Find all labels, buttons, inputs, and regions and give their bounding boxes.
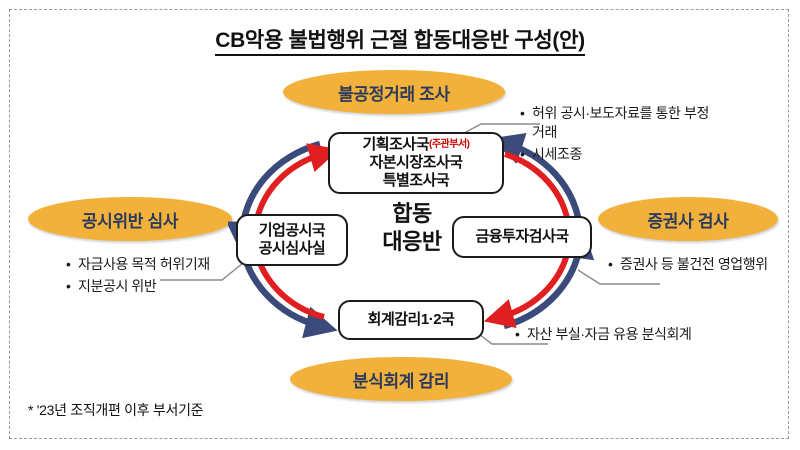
dept-left-line2: 공시심사실 bbox=[259, 240, 326, 258]
list-item: • 지분공시 위반 bbox=[66, 277, 241, 296]
bullet-text: 지분공시 위반 bbox=[78, 277, 241, 296]
bullet-group-right: • 증권사 등 불건전 영업행위 bbox=[608, 255, 788, 277]
footnote: * '23년 조직개편 이후 부서기준 bbox=[28, 400, 203, 420]
bullet-group-left: • 자금사용 목적 허위기재 • 지분공시 위반 bbox=[66, 255, 241, 299]
dept-top-line2: 자본시장조사국 bbox=[369, 154, 462, 172]
bullet-dot-icon: • bbox=[608, 255, 620, 274]
dept-top-line1: 기획조사국(주관부서) bbox=[363, 136, 470, 154]
list-item: • 증권사 등 불건전 영업행위 bbox=[608, 255, 788, 274]
pill-right-text: 증권사 검사 bbox=[647, 207, 728, 232]
dept-right-line1: 금융투자검사국 bbox=[475, 228, 568, 246]
bullet-text: 증권사 등 불건전 영업행위 bbox=[620, 255, 788, 274]
list-item: • 허위 공시·보도자료를 통한 부정거래 bbox=[520, 104, 720, 142]
dept-bottom-line1: 회계감리1·2국 bbox=[368, 311, 455, 329]
dept-top-line1-main: 기획조사국 bbox=[363, 136, 430, 153]
page-title-text: CB악용 불법행위 근절 합동대응반 구성(안) bbox=[215, 29, 585, 56]
dept-top-line3: 특별조사국 bbox=[383, 172, 450, 190]
list-item: • 시세조종 bbox=[520, 145, 720, 164]
diagram-page: CB악용 불법행위 근절 합동대응반 구성(안) 불공정거래 조사 공시위반 심… bbox=[0, 0, 800, 450]
bullet-dot-icon: • bbox=[515, 325, 527, 344]
bullet-text: 허위 공시·보도자료를 통한 부정거래 bbox=[532, 104, 720, 142]
bullet-text: 자금사용 목적 허위기재 bbox=[78, 255, 241, 274]
dept-box-top: 기획조사국(주관부서) 자본시장조사국 특별조사국 bbox=[328, 132, 504, 194]
bullet-dot-icon: • bbox=[520, 145, 532, 164]
pill-label-right: 증권사 검사 bbox=[598, 197, 778, 241]
dept-box-right: 금융투자검사국 bbox=[452, 216, 592, 258]
bullet-group-top-right: • 허위 공시·보도자료를 통한 부정거래 • 시세조종 bbox=[520, 104, 720, 167]
pill-label-top: 불공정거래 조사 bbox=[283, 70, 505, 114]
list-item: • 자금사용 목적 허위기재 bbox=[66, 255, 241, 274]
list-item: • 자산 부실·자금 유용 분식회계 bbox=[515, 325, 705, 344]
dept-box-left: 기업공시국 공시심사실 bbox=[236, 214, 348, 266]
bullet-dot-icon: • bbox=[520, 104, 532, 142]
pill-top-text: 불공정거래 조사 bbox=[338, 80, 450, 105]
bullet-text: 자산 부실·자금 유용 분식회계 bbox=[527, 325, 705, 344]
page-title: CB악용 불법행위 근절 합동대응반 구성(안) bbox=[0, 24, 800, 54]
pill-left-text: 공시위반 심사 bbox=[82, 207, 178, 232]
bullet-group-bottom-right: • 자산 부실·자금 유용 분식회계 bbox=[515, 325, 705, 347]
pill-bottom-text: 분식회계 감리 bbox=[353, 367, 449, 392]
pill-label-bottom: 분식회계 감리 bbox=[290, 357, 512, 401]
dept-box-bottom: 회계감리1·2국 bbox=[338, 300, 484, 340]
bullet-text: 시세조종 bbox=[532, 145, 720, 164]
bullet-dot-icon: • bbox=[66, 255, 78, 274]
dept-left-line1: 기업공시국 bbox=[259, 222, 326, 240]
bullet-dot-icon: • bbox=[66, 277, 78, 296]
dept-top-line1-note: (주관부서) bbox=[429, 139, 469, 150]
pill-label-left: 공시위반 심사 bbox=[28, 197, 232, 241]
